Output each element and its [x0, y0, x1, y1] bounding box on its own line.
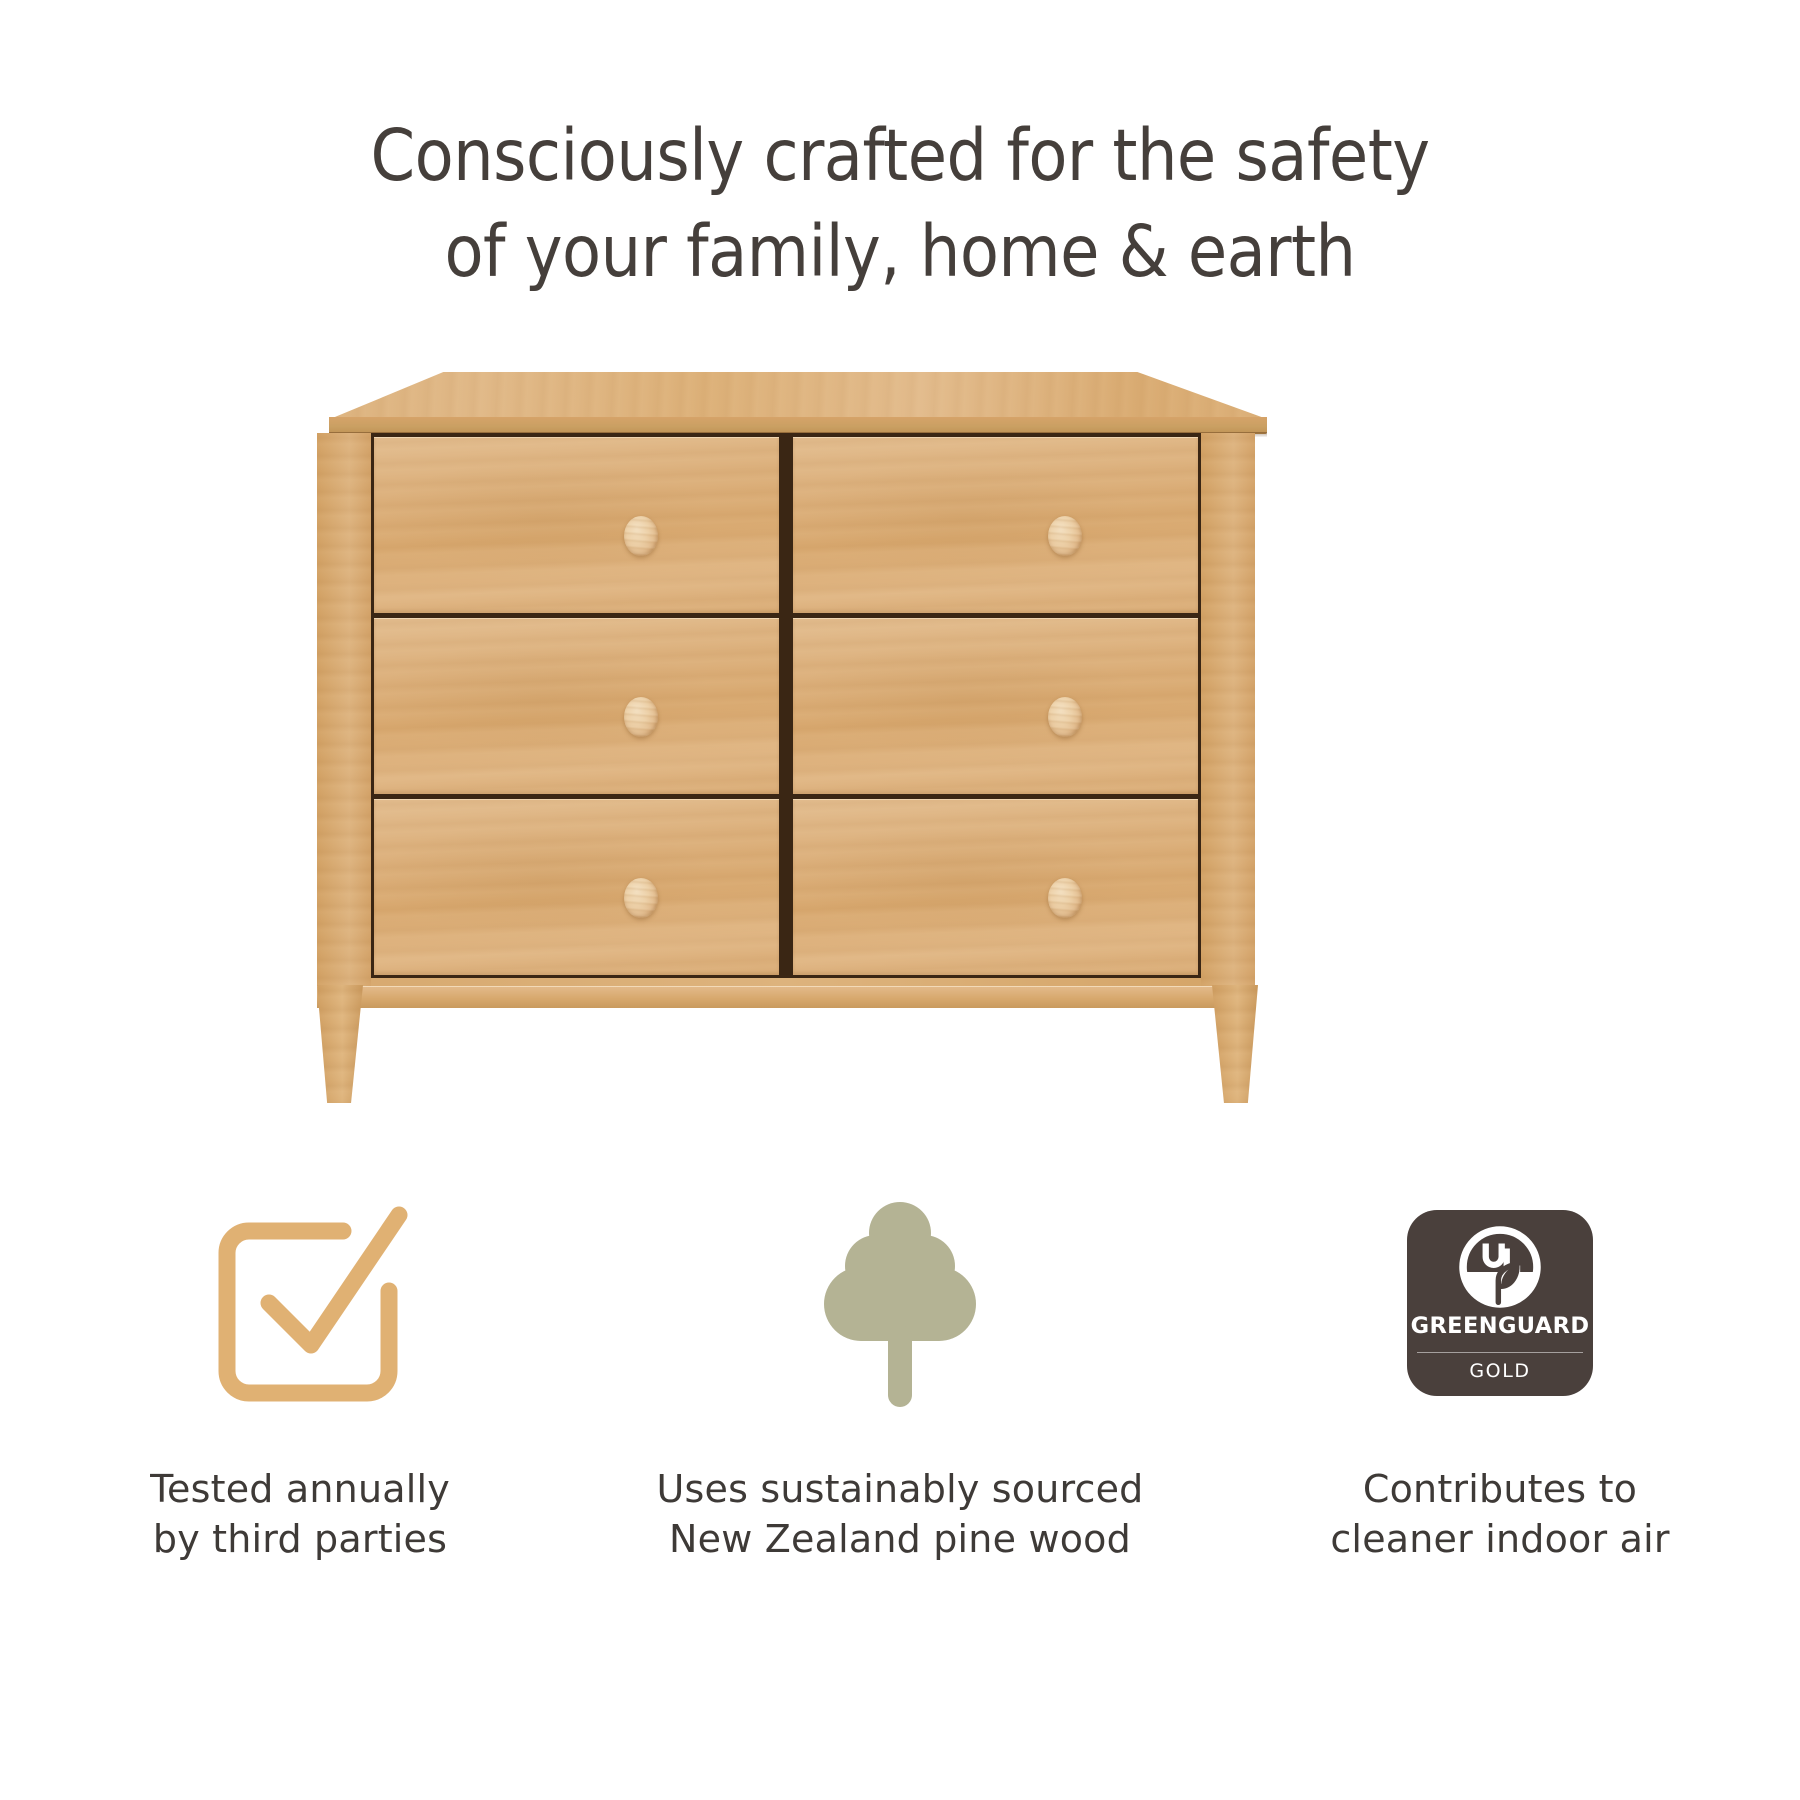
dresser-drawer-grid — [371, 433, 1201, 978]
drawer-knob-bottom-left[interactable] — [624, 878, 658, 918]
dresser-top — [307, 372, 1267, 434]
feature-tested-annually: Tested annually by third parties — [0, 1185, 600, 1564]
dresser-leg-right — [1212, 985, 1258, 1103]
dresser-leg-left — [317, 985, 363, 1103]
drawer-bottom-left[interactable] — [374, 799, 779, 975]
feature-row: Tested annually by third parties Uses su… — [0, 1185, 1800, 1564]
feature-caption: Uses sustainably sourced New Zealand pin… — [656, 1464, 1143, 1564]
dresser-bottom-rail — [317, 986, 1255, 1008]
feature-sustainable-wood: Uses sustainably sourced New Zealand pin… — [600, 1185, 1200, 1564]
badge-divider — [1417, 1352, 1583, 1354]
ul-mark-icon — [1458, 1225, 1542, 1309]
drawer-knob-bottom-right[interactable] — [1048, 878, 1082, 918]
drawer-middle-right[interactable] — [793, 618, 1198, 794]
marketing-graphic: Consciously crafted for the safety of yo… — [0, 0, 1800, 1800]
drawer-top-right[interactable] — [793, 437, 1198, 613]
dresser-side-panel-left — [317, 433, 371, 988]
product-image-dresser — [295, 372, 1280, 1112]
feature-caption-line-1: Tested annually — [150, 1464, 450, 1514]
drawer-bottom-right[interactable] — [793, 799, 1198, 975]
greenguard-gold-badge-icon: GREENGUARD GOLD — [1407, 1210, 1593, 1396]
drawer-knob-top-right[interactable] — [1048, 516, 1082, 556]
feature-caption: Tested annually by third parties — [150, 1464, 450, 1564]
feature-icon-slot — [193, 1185, 408, 1420]
feature-caption-line-1: Contributes to — [1330, 1464, 1669, 1514]
drawer-knob-middle-left[interactable] — [624, 697, 658, 737]
page-title: Consciously crafted for the safety of yo… — [0, 108, 1800, 300]
drawer-knob-middle-right[interactable] — [1048, 697, 1082, 737]
dresser-top-surface — [307, 372, 1267, 419]
feature-caption-line-2: by third parties — [150, 1514, 450, 1564]
dresser-side-panel-right — [1201, 433, 1255, 988]
dresser-case — [317, 433, 1255, 988]
feature-caption-line-2: cleaner indoor air — [1330, 1514, 1669, 1564]
greenguard-level-label: GOLD — [1407, 1360, 1593, 1382]
tree-icon — [800, 1195, 1000, 1410]
checkbox-check-icon — [193, 1195, 408, 1410]
feature-caption: Contributes to cleaner indoor air — [1330, 1464, 1669, 1564]
drawer-top-left[interactable] — [374, 437, 779, 613]
drawer-knob-top-left[interactable] — [624, 516, 658, 556]
headline-line-2: of your family, home & earth — [0, 204, 1800, 300]
drawer-middle-left[interactable] — [374, 618, 779, 794]
feature-caption-line-1: Uses sustainably sourced — [656, 1464, 1143, 1514]
feature-icon-slot: GREENGUARD GOLD — [1407, 1185, 1593, 1420]
feature-cleaner-air: GREENGUARD GOLD Contributes to cleaner i… — [1200, 1185, 1800, 1564]
feature-icon-slot — [800, 1185, 1000, 1420]
headline-line-1: Consciously crafted for the safety — [0, 108, 1800, 204]
greenguard-label: GREENGUARD — [1411, 1313, 1590, 1339]
feature-caption-line-2: New Zealand pine wood — [656, 1514, 1143, 1564]
